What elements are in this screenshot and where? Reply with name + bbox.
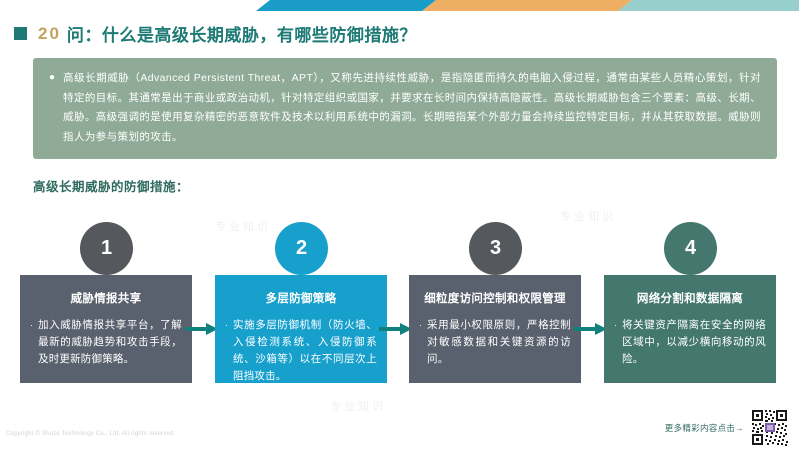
qr-cta[interactable]: 更多精彩内容点击→ <box>665 408 789 447</box>
step-title-1: 威胁情报共享 <box>30 275 182 307</box>
step-title-3: 细粒度访问控制和权限管理 <box>419 275 571 307</box>
topbar-segment-blue <box>256 0 436 11</box>
step-body-4: 将关键资产隔离在安全的网络区域中，以减少横向移动的风险。 <box>622 317 766 368</box>
bullet-icon: · <box>225 317 228 385</box>
copyright-notice: Copyright © Shuze Technology Co., Ltd. A… <box>6 431 176 437</box>
page-title: 20 问：什么是高级长期威胁，有哪些防御措施？ <box>14 21 417 46</box>
question-number: 20 <box>38 24 61 44</box>
topbar-segment-teal <box>618 0 799 11</box>
section-subtitle: 高级长期威胁的防御措施： <box>33 176 189 195</box>
qr-label: 更多精彩内容点击→ <box>665 422 744 434</box>
top-decorative-bar <box>0 0 799 11</box>
question-text: 问：什么是高级长期威胁，有哪些防御措施？ <box>67 21 417 46</box>
step-title-2: 多层防御策略 <box>225 275 377 307</box>
step-body-2: 实施多层防御机制（防火墙、入侵检测系统、入侵防御系统、沙箱等）以在不同层次上阻挡… <box>233 317 377 385</box>
bullet-icon: ● <box>49 69 55 147</box>
topbar-segment-orange <box>422 0 632 11</box>
flow-arrow-icon <box>379 323 412 335</box>
definition-text: 高级长期威胁（Advanced Persistent Threat，APT），又… <box>63 69 761 147</box>
flow-arrow-icon <box>185 323 218 335</box>
step-card-1: 威胁情报共享 · 加入威胁情报共享平台，了解最新的威胁趋势和攻击手段，及时更新防… <box>20 275 192 383</box>
step-number-badge-4: 4 <box>664 222 717 275</box>
step-body-1: 加入威胁情报共享平台，了解最新的威胁趋势和攻击手段，及时更新防御策略。 <box>38 317 182 368</box>
qr-code-icon[interactable] <box>750 408 789 447</box>
step-number-badge-2: 2 <box>275 222 328 275</box>
watermark: 专业知识 <box>330 398 386 414</box>
step-number-badge-3: 3 <box>469 222 522 275</box>
flow-arrow-icon <box>574 323 607 335</box>
step-title-4: 网络分割和数据隔离 <box>614 275 766 307</box>
step-body-3: 采用最小权限原则，严格控制对敏感数据和关键资源的访问。 <box>427 317 571 368</box>
defense-measures-flow: 1 威胁情报共享 · 加入威胁情报共享平台，了解最新的威胁趋势和攻击手段，及时更… <box>0 222 799 392</box>
bullet-icon: · <box>614 317 617 368</box>
definition-panel: ● 高级长期威胁（Advanced Persistent Threat，APT）… <box>33 58 777 159</box>
step-card-2: 多层防御策略 · 实施多层防御机制（防火墙、入侵检测系统、入侵防御系统、沙箱等）… <box>215 275 387 383</box>
step-number-badge-1: 1 <box>80 222 133 275</box>
step-card-4: 网络分割和数据隔离 · 将关键资产隔离在安全的网络区域中，以减少横向移动的风险。 <box>604 275 776 383</box>
bullet-icon: · <box>30 317 33 368</box>
step-card-3: 细粒度访问控制和权限管理 · 采用最小权限原则，严格控制对敏感数据和关键资源的访… <box>409 275 581 383</box>
bullet-icon: · <box>419 317 422 368</box>
square-bullet-icon <box>14 27 27 40</box>
